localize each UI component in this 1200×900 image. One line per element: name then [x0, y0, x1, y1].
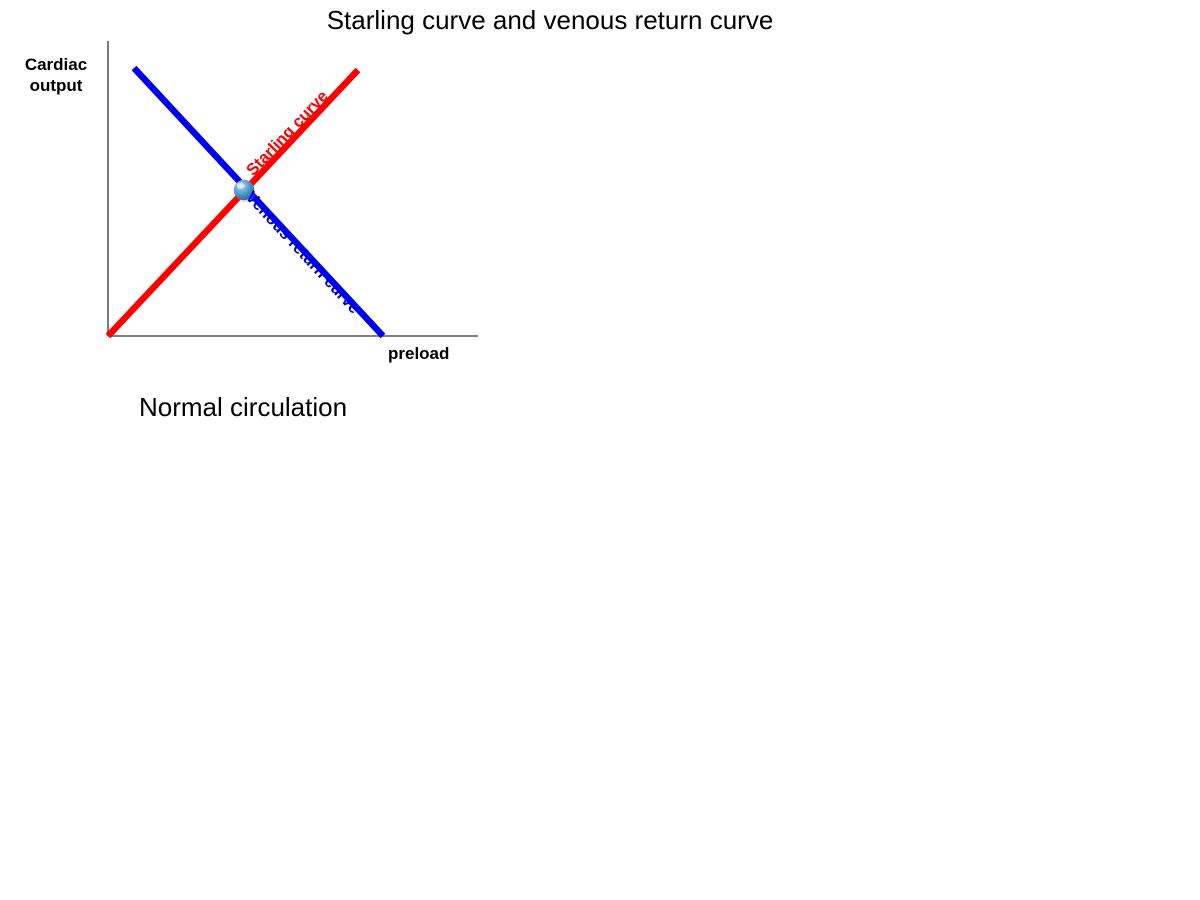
operating-point-highlight: [237, 183, 245, 189]
y-axis-title-line2: output: [10, 75, 102, 96]
starling-venous-return-chart: Cardiac output preload Starling curve Ve…: [0, 0, 600, 440]
y-axis-title-line1: Cardiac: [10, 54, 102, 75]
slide-canvas: Starling curve and venous return curve: [0, 0, 1200, 900]
x-axis-title: preload: [388, 344, 449, 364]
y-axis-title: Cardiac output: [10, 54, 102, 97]
figure-caption: Normal circulation: [139, 392, 347, 423]
